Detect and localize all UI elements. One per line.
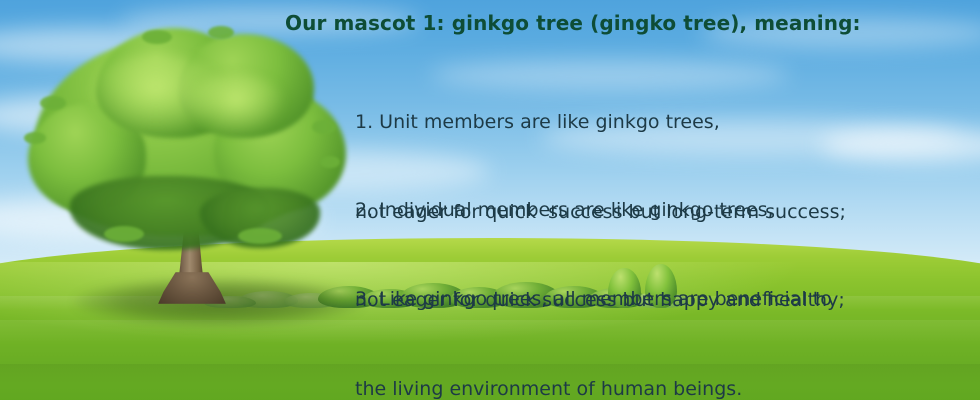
meaning-line: the living environment of human beings. — [355, 374, 832, 400]
meaning-line: 1. Unit members are like ginkgo trees, — [355, 107, 846, 137]
mascot-meaning-item-3: 3. Like ginkgo trees, all members are be… — [355, 224, 832, 400]
page-title: Our mascot 1: ginkgo tree (gingko tree),… — [285, 11, 861, 35]
mascot-banner: Our mascot 1: ginkgo tree (gingko tree),… — [0, 0, 980, 400]
meaning-line: 2. Individual members are like ginkgo tr… — [355, 195, 845, 225]
banner-copy: Our mascot 1: ginkgo tree (gingko tree),… — [0, 0, 980, 300]
meaning-line: 3. Like ginkgo trees, all members are be… — [355, 284, 832, 314]
